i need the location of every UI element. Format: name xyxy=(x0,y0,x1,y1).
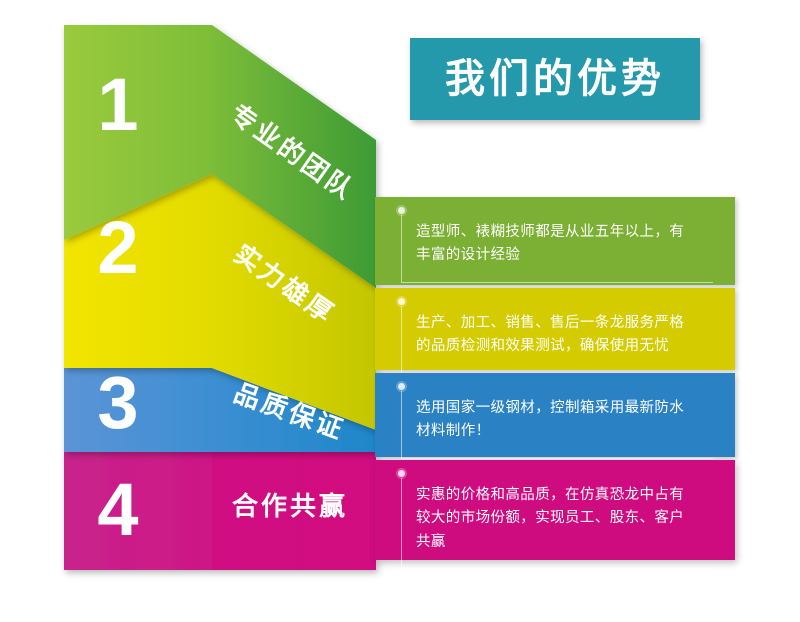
step-description-3: 选用国家一级钢材，控制箱采用最新防水材料制作！ xyxy=(416,397,699,444)
infographic-canvas: 我们的优势 xyxy=(0,0,800,622)
step-description-1: 造型师、裱糊技师都是从业五年以上，有丰富的设计经验 xyxy=(416,221,699,268)
bullet-dot-icon xyxy=(398,470,405,477)
bullet-dot-icon xyxy=(398,298,405,305)
bullet-dot-icon xyxy=(398,383,405,390)
step-description-4: 实惠的价格和高品质，在仿真恐龙中占有较大的市场份额，实现员工、股东、客户共赢 xyxy=(416,484,699,554)
step-number-3: 3 xyxy=(97,361,138,444)
step-description-2: 生产、加工、销售、售后一条龙服务严格的品质检测和效果测试，确保使用无忧 xyxy=(416,312,699,359)
step-description-panel-2: 生产、加工、销售、售后一条龙服务严格的品质检测和效果测试，确保使用无忧 xyxy=(375,288,735,370)
step-description-panel-3: 选用国家一级钢材，控制箱采用最新防水材料制作！ xyxy=(375,373,735,457)
bullet-dot-icon xyxy=(398,207,405,214)
step-description-panel-1: 造型师、裱糊技师都是从业五年以上，有丰富的设计经验 xyxy=(375,197,735,285)
step-label-4: 合作共赢 xyxy=(232,491,348,521)
step-number-4: 4 xyxy=(97,468,138,551)
step-number-1: 1 xyxy=(97,63,138,146)
step-number-2: 2 xyxy=(97,206,138,289)
step-description-panel-4: 实惠的价格和高品质，在仿真恐龙中占有较大的市场份额，实现员工、股东、客户共赢 xyxy=(375,460,735,560)
